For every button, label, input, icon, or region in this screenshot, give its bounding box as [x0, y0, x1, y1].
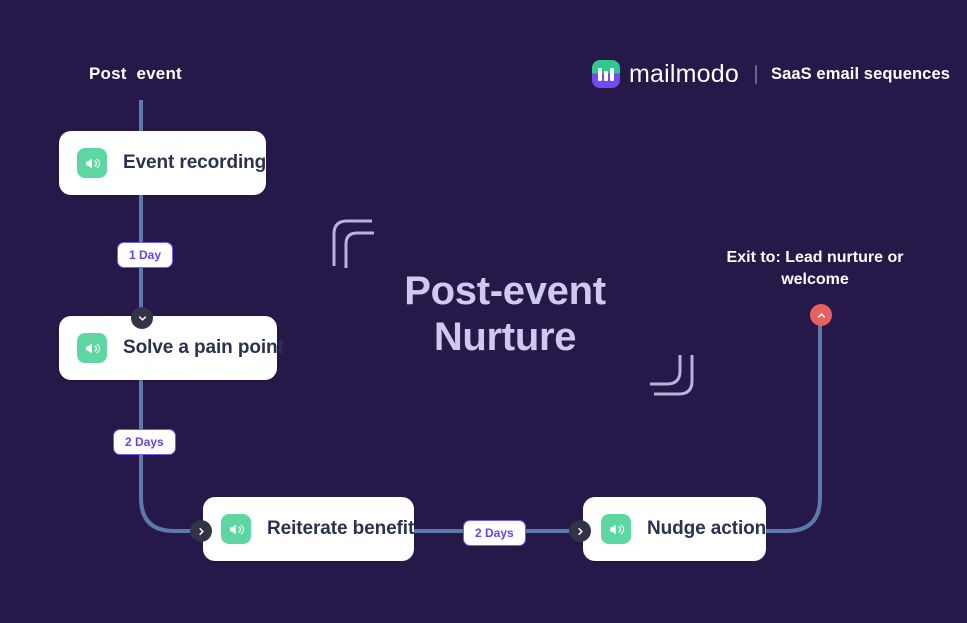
brand-tagline: SaaS email sequences	[771, 65, 950, 84]
decorative-corner-arc-top	[330, 216, 374, 268]
page-title-line-1: Post-event	[355, 268, 655, 314]
step-card-nudge-action[interactable]: Nudge action	[583, 497, 766, 561]
chevron-down-icon[interactable]	[131, 307, 153, 329]
step-card-label: Reiterate benefit	[267, 518, 414, 540]
step-card-label: Event recording	[123, 152, 266, 174]
step-card-label: Solve a pain point	[123, 337, 284, 359]
chevron-up-icon[interactable]	[810, 304, 832, 326]
brand-name: mailmodo	[629, 60, 739, 89]
flow-diagram-canvas: mailmodo SaaS email sequences Post event…	[0, 0, 967, 623]
megaphone-icon	[221, 514, 251, 544]
step-card-reiterate-benefit[interactable]: Reiterate benefit	[203, 497, 414, 561]
mailmodo-logo-icon	[592, 60, 620, 88]
delay-badge-2-days-first[interactable]: 2 Days	[113, 429, 176, 455]
step-card-event-recording[interactable]: Event recording	[59, 131, 266, 195]
megaphone-icon	[77, 333, 107, 363]
megaphone-icon	[601, 514, 631, 544]
step-card-label: Nudge action	[647, 518, 766, 540]
chevron-right-icon[interactable]	[569, 520, 591, 542]
delay-badge-1-day[interactable]: 1 Day	[117, 242, 173, 268]
page-title-line-2: Nurture	[355, 314, 655, 360]
exit-label: Exit to: Lead nurture or welcome	[715, 247, 915, 291]
brand-separator	[755, 65, 757, 84]
decorative-corner-arc-bottom	[650, 355, 698, 407]
entry-stage-label: Post event	[89, 64, 182, 84]
brand-header: mailmodo SaaS email sequences	[592, 59, 950, 89]
megaphone-icon	[77, 148, 107, 178]
step-card-solve-a-pain-point[interactable]: Solve a pain point	[59, 316, 277, 380]
page-title: Post-event Nurture	[355, 268, 655, 360]
delay-badge-2-days-second[interactable]: 2 Days	[463, 520, 526, 546]
chevron-right-icon[interactable]	[190, 520, 212, 542]
